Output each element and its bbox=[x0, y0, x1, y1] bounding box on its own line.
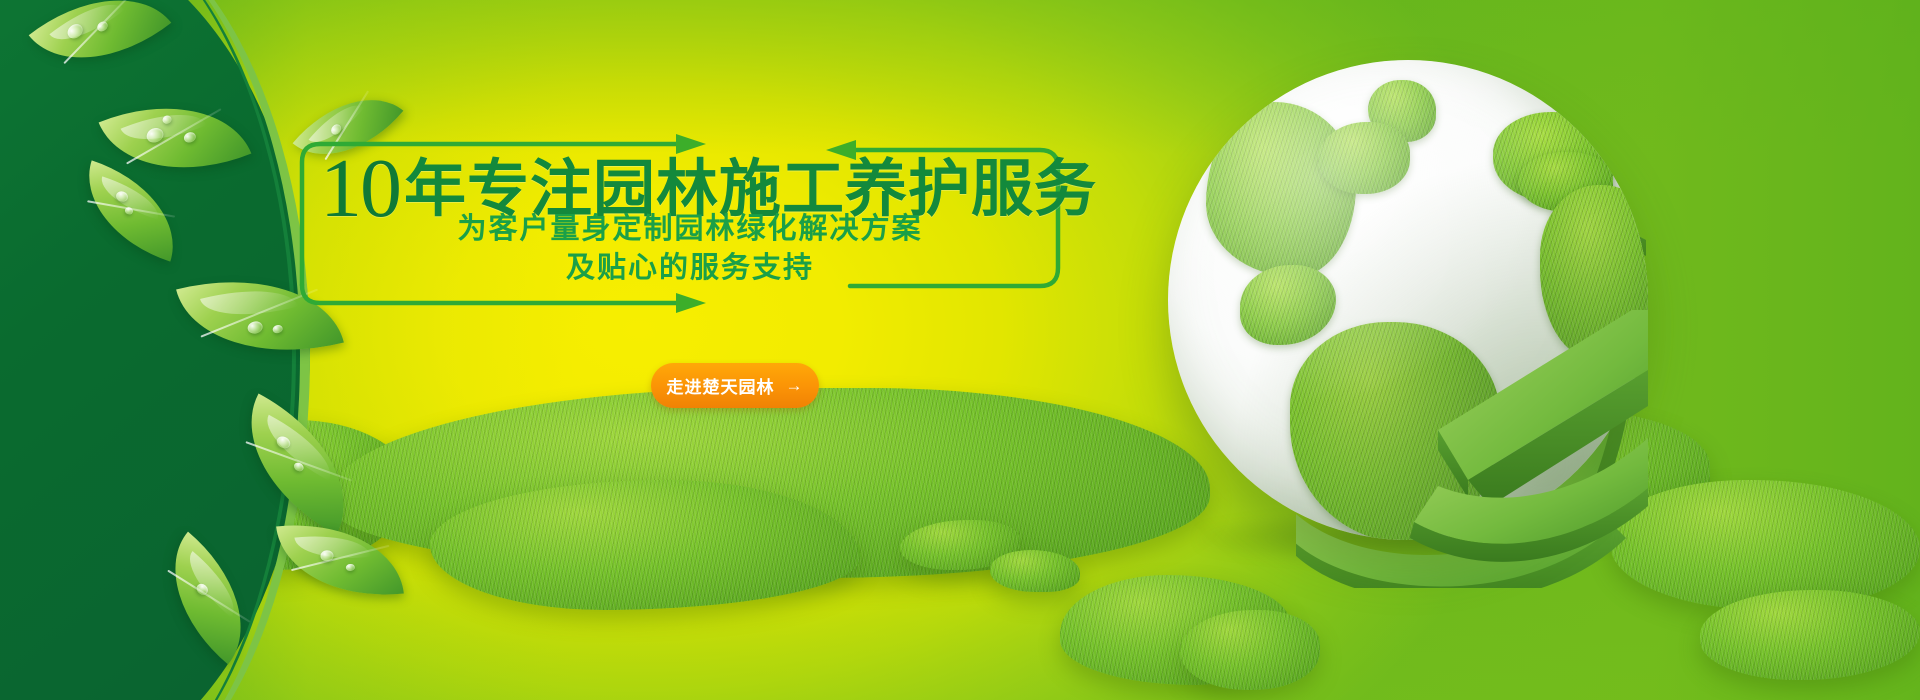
vine-stem bbox=[0, 0, 310, 700]
landmass-shape bbox=[990, 550, 1080, 592]
continent-shape bbox=[1318, 122, 1410, 194]
enter-chutian-landscaping-button[interactable]: 走进楚天园林 → bbox=[651, 363, 819, 408]
continent-shape bbox=[1206, 102, 1356, 277]
landmass-shape bbox=[1180, 610, 1320, 690]
arrow-right-head-bottom bbox=[676, 293, 706, 313]
leaf-icon bbox=[276, 514, 404, 606]
landmass-shape bbox=[430, 480, 860, 610]
subtitle-line-2: 及贴心的服务支持 bbox=[410, 249, 970, 288]
eco-landscaping-banner: 10年专注园林施工养护服务 为客户量身定制园林绿化解决方案 及贴心的服务支持 走… bbox=[0, 0, 1920, 700]
subtitle-line-1: 为客户量身定制园林绿化解决方案 bbox=[410, 210, 970, 249]
earth-globe-graphic bbox=[1168, 60, 1728, 590]
arrow-right-icon: → bbox=[786, 377, 804, 394]
green-arrow-front-icon bbox=[1318, 310, 1648, 610]
left-leaf-decoration bbox=[0, 0, 430, 700]
headline-block: 10年专注园林施工养护服务 为客户量身定制园林绿化解决方案 及贴心的服务支持 bbox=[290, 110, 1090, 330]
subtitle: 为客户量身定制园林绿化解决方案 及贴心的服务支持 bbox=[410, 210, 970, 288]
landmass-shape bbox=[1700, 590, 1920, 680]
years-number: 10 bbox=[320, 142, 404, 235]
cta-label: 走进楚天园林 bbox=[667, 373, 775, 398]
